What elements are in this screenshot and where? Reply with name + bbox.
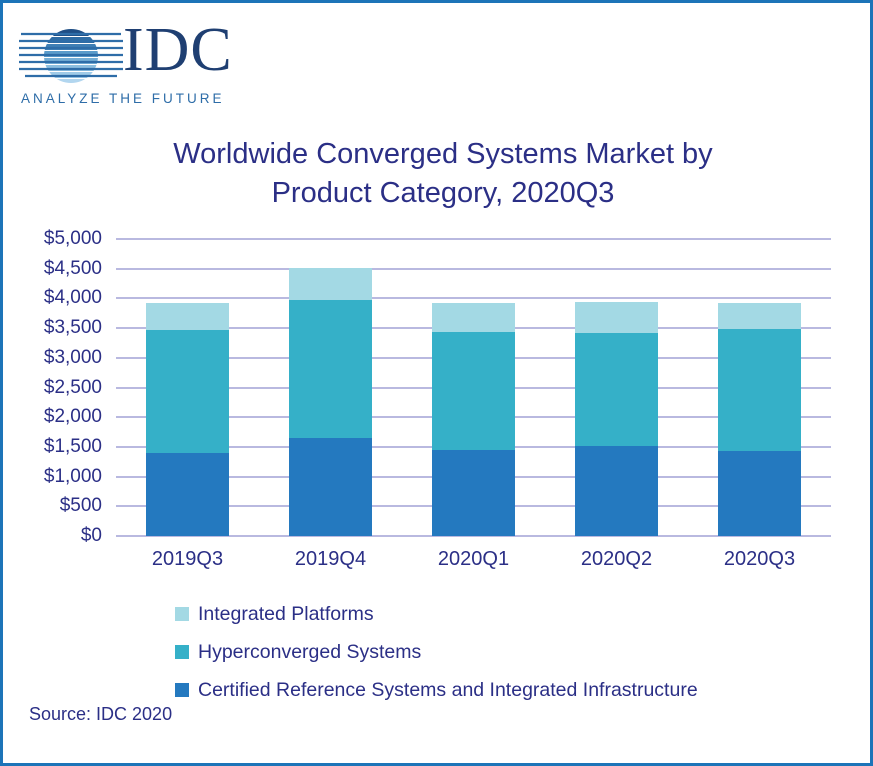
legend-label: Hyperconverged Systems	[198, 641, 421, 664]
legend-item[interactable]: Hyperconverged Systems	[175, 633, 698, 671]
logo-wordmark: IDC	[123, 19, 233, 81]
legend-item[interactable]: Certified Reference Systems and Integrat…	[175, 671, 698, 709]
x-axis: 2019Q32019Q42020Q12020Q22020Q3	[116, 548, 831, 578]
y-axis-tick-label: $1,000	[22, 466, 102, 488]
bar-segment[interactable]	[289, 300, 372, 438]
idc-logo: IDC ANALYZE THE FUTURE	[19, 25, 234, 113]
bar-segment[interactable]	[432, 450, 515, 536]
legend-label: Certified Reference Systems and Integrat…	[198, 679, 698, 702]
chart-page: IDC ANALYZE THE FUTURE Worldwide Converg…	[0, 0, 873, 766]
chart-legend: Integrated PlatformsHyperconverged Syste…	[175, 595, 698, 709]
bar-segment[interactable]	[575, 333, 658, 445]
bar-segment[interactable]	[289, 268, 372, 300]
x-axis-tick-label: 2019Q3	[123, 548, 253, 571]
y-axis-tick-label: $4,000	[22, 287, 102, 309]
y-axis-tick-label: $3,000	[22, 347, 102, 369]
bar-group[interactable]	[718, 239, 801, 536]
bar-group[interactable]	[146, 239, 229, 536]
x-axis-tick-label: 2020Q2	[552, 548, 682, 571]
chart-title: Worldwide Converged Systems Market by Pr…	[113, 135, 773, 213]
y-axis-tick-label: $0	[22, 525, 102, 547]
y-axis-tick-label: $2,000	[22, 406, 102, 428]
y-axis-tick-label: $1,500	[22, 436, 102, 458]
bar-segment[interactable]	[146, 330, 229, 453]
bar-segment[interactable]	[432, 303, 515, 332]
y-axis-tick-label: $2,500	[22, 377, 102, 399]
legend-swatch-icon	[175, 683, 189, 697]
bar-group[interactable]	[432, 239, 515, 536]
source-note: Source: IDC 2020	[29, 704, 172, 725]
y-axis-tick-label: $500	[22, 495, 102, 517]
y-axis-tick-label: $3,500	[22, 317, 102, 339]
bar-segment[interactable]	[432, 332, 515, 450]
chart-title-line-2: Product Category, 2020Q3	[113, 174, 773, 213]
bar-group[interactable]	[289, 239, 372, 536]
chart-title-line-1: Worldwide Converged Systems Market by	[113, 135, 773, 174]
x-axis-tick-label: 2019Q4	[266, 548, 396, 571]
legend-swatch-icon	[175, 645, 189, 659]
bar-segment[interactable]	[718, 329, 801, 451]
legend-swatch-icon	[175, 607, 189, 621]
y-axis: $5,000$4,500$4,000$3,500$3,000$2,500$2,0…	[22, 239, 102, 536]
bar-segment[interactable]	[575, 446, 658, 536]
bar-segment[interactable]	[146, 453, 229, 536]
x-axis-tick-label: 2020Q1	[409, 548, 539, 571]
bar-segment[interactable]	[718, 303, 801, 329]
bar-segment[interactable]	[146, 303, 229, 330]
legend-label: Integrated Platforms	[198, 603, 374, 626]
x-axis-tick-label: 2020Q3	[695, 548, 825, 571]
legend-item[interactable]: Integrated Platforms	[175, 595, 698, 633]
bar-segment[interactable]	[575, 302, 658, 333]
y-axis-tick-label: $5,000	[22, 228, 102, 250]
bar-segment[interactable]	[718, 451, 801, 536]
y-axis-tick-label: $4,500	[22, 258, 102, 280]
bar-segment[interactable]	[289, 438, 372, 536]
plot-area	[116, 239, 831, 536]
striped-globe-icon	[19, 25, 123, 87]
bar-group[interactable]	[575, 239, 658, 536]
logo-tagline: ANALYZE THE FUTURE	[21, 91, 225, 106]
